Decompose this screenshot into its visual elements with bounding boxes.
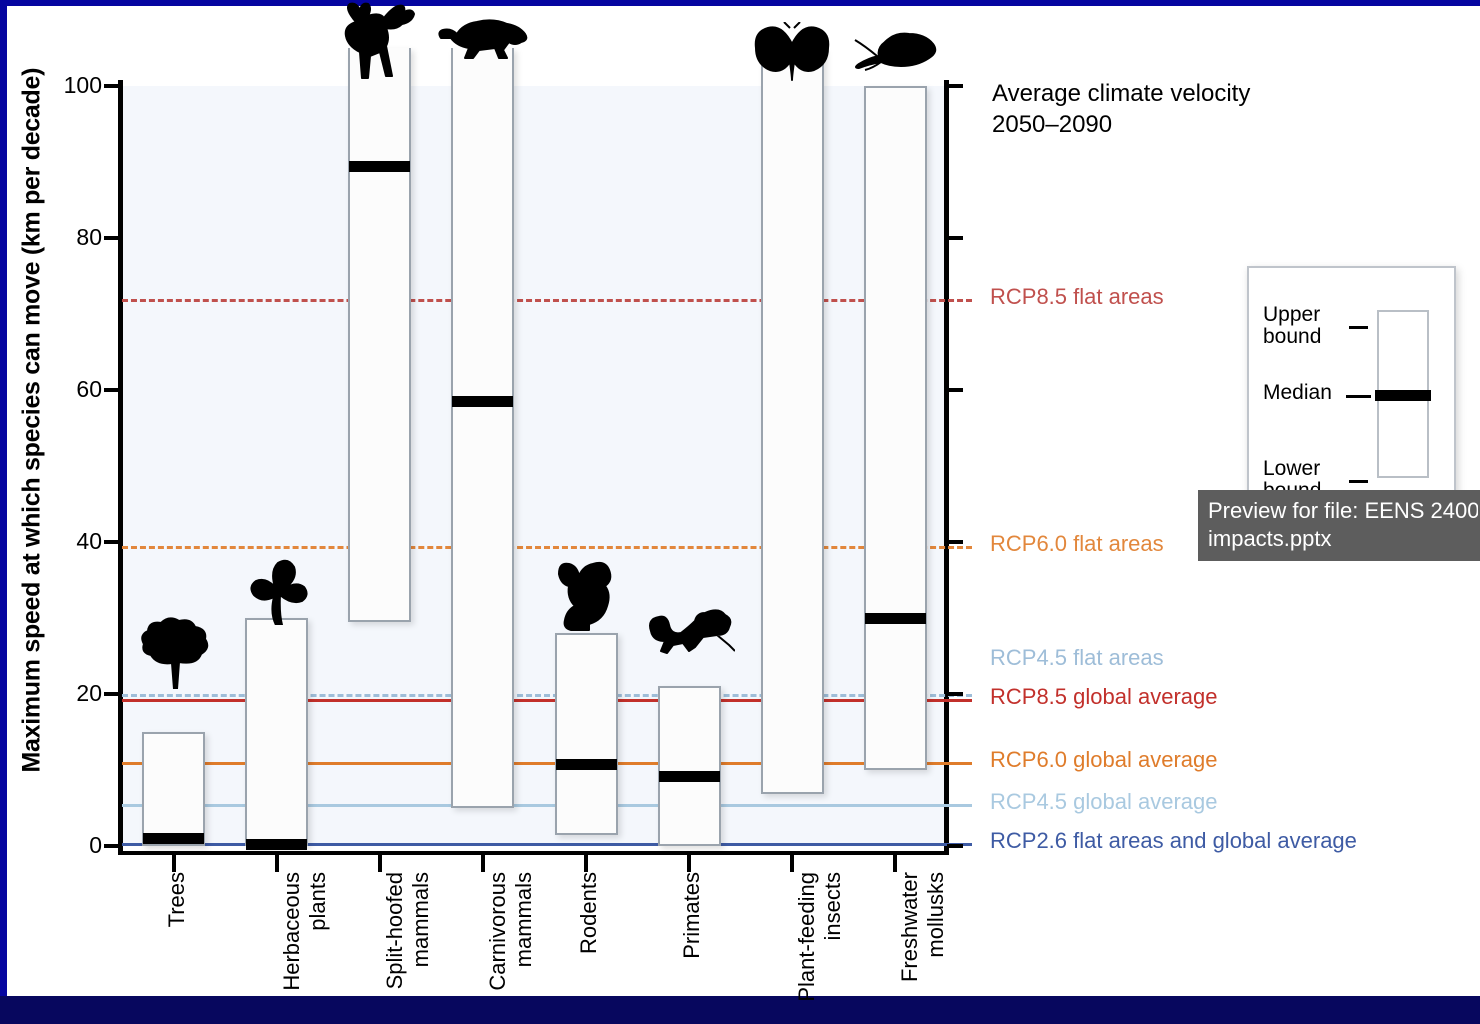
y-axis-line — [118, 80, 123, 855]
x-tick-mark-2 — [378, 855, 382, 872]
x-axis-label-line1-6: Plant-feeding — [794, 872, 819, 1002]
median-marker-0 — [143, 833, 204, 844]
median-marker-1 — [246, 839, 307, 850]
bar-trees — [142, 732, 205, 846]
tree-icon — [139, 617, 209, 689]
slide-bottom-border — [0, 996, 1480, 1024]
median-marker-2 — [349, 161, 410, 172]
file-preview-tooltip: Preview for file: EENS 2400 impacts.pptx — [1198, 490, 1480, 561]
y-tick-label-100: 100 — [42, 72, 102, 99]
squirrel-icon — [553, 558, 619, 632]
chart-legend: Upper bound Median Lower bound — [1247, 266, 1456, 497]
x-axis-label-line2-2: mammals — [408, 872, 434, 989]
butterfly-icon — [752, 22, 832, 84]
legend-upper-bound-label: Upper bound — [1263, 304, 1321, 348]
climate-velocity-note: Average climate velocity 2050–2090 — [992, 78, 1250, 140]
bar-carnivorous-mammals — [451, 48, 514, 808]
x-axis-label-4: Rodents — [576, 872, 602, 954]
slide-left-border — [0, 0, 7, 1024]
x-tick-mark-6 — [790, 855, 794, 872]
y-tick-mark-40 — [104, 540, 120, 544]
x-tick-mark-3 — [481, 855, 485, 872]
mollusk-icon — [851, 28, 939, 72]
x-axis-label-line1-3: Carnivorous — [485, 872, 510, 991]
y-tick-mark-right-80 — [947, 236, 963, 240]
reference-line-label-4: RCP6.0 global average — [990, 747, 1217, 773]
x-axis-line — [118, 851, 949, 855]
clover-plant-icon — [246, 553, 308, 625]
x-axis-label-3: Carnivorousmammals — [485, 872, 537, 991]
x-axis-label-line1-5: Primates — [679, 872, 704, 959]
reference-line-label-3: RCP8.5 global average — [990, 684, 1217, 710]
median-marker-3 — [452, 396, 513, 407]
y-tick-mark-right-40 — [947, 540, 963, 544]
bar-freshwater-mollusks — [864, 86, 927, 770]
slide-top-border — [0, 0, 1480, 6]
y-tick-mark-right-20 — [947, 692, 963, 696]
reference-line-label-2: RCP4.5 flat areas — [990, 645, 1164, 671]
bar-split-hoofed-mammals — [348, 48, 411, 622]
bar-herbaceous-plants — [245, 618, 308, 846]
y-tick-label-80: 80 — [42, 224, 102, 251]
x-axis-label-line1-4: Rodents — [576, 872, 601, 954]
x-tick-mark-7 — [893, 855, 897, 872]
reference-line-1 — [122, 546, 972, 549]
median-marker-5 — [659, 771, 720, 782]
reference-line-label-6: RCP2.6 flat areas and global average — [990, 828, 1357, 854]
bar-rodents — [555, 633, 618, 834]
slide-canvas: Maximum speed at which species can move … — [0, 0, 1480, 1024]
x-tick-mark-4 — [584, 855, 588, 872]
x-axis-label-5: Primates — [679, 872, 705, 959]
y-tick-mark-80 — [104, 236, 120, 240]
y-tick-label-60: 60 — [42, 376, 102, 403]
legend-lower-bound-dash — [1349, 480, 1368, 483]
x-axis-label-line2-7: mollusks — [923, 872, 949, 982]
tooltip-line-2: impacts.pptx — [1208, 525, 1478, 553]
cheetah-icon — [437, 16, 529, 60]
median-marker-4 — [556, 759, 617, 770]
y-tick-mark-0 — [104, 844, 120, 848]
legend-median-dash — [1346, 395, 1371, 398]
y-tick-label-20: 20 — [42, 680, 102, 707]
x-axis-label-line1-2: Split-hoofed — [382, 872, 407, 989]
x-axis-label-2: Split-hoofedmammals — [382, 872, 434, 989]
x-axis-label-line2-1: plants — [305, 872, 331, 991]
y-tick-mark-60 — [104, 388, 120, 392]
x-axis-label-line1-7: Freshwater — [897, 872, 922, 982]
x-axis-label-line1-1: Herbaceous — [279, 872, 304, 991]
legend-median-label: Median — [1263, 382, 1332, 404]
legend-sample-median — [1375, 390, 1431, 401]
x-axis-label-line2-3: mammals — [511, 872, 537, 991]
bar-plant-feeding-insects — [761, 48, 824, 794]
y-tick-mark-right-0 — [947, 844, 963, 848]
x-tick-mark-5 — [687, 855, 691, 872]
x-axis-label-6: Plant-feedinginsects — [794, 872, 846, 1002]
tooltip-line-1: Preview for file: EENS 2400 — [1208, 497, 1478, 525]
median-marker-7 — [865, 613, 926, 624]
moose-icon — [334, 2, 426, 80]
y-tick-mark-right-100 — [947, 84, 963, 88]
x-tick-mark-0 — [172, 855, 176, 872]
reference-line-label-1: RCP6.0 flat areas — [990, 531, 1164, 557]
secondary-y-axis-line — [944, 80, 949, 855]
y-tick-label-0: 0 — [42, 832, 102, 859]
y-tick-mark-100 — [104, 84, 120, 88]
x-tick-mark-1 — [275, 855, 279, 872]
reference-line-label-5: RCP4.5 global average — [990, 789, 1217, 815]
x-axis-label-0: Trees — [164, 872, 190, 927]
x-axis-label-1: Herbaceousplants — [279, 872, 331, 991]
y-tick-label-40: 40 — [42, 528, 102, 555]
legend-upper-bound-dash — [1349, 326, 1368, 329]
reference-line-label-0: RCP8.5 flat areas — [990, 284, 1164, 310]
x-axis-label-7: Freshwatermollusks — [897, 872, 949, 982]
bar-primates — [658, 686, 721, 846]
note-line-1: Average climate velocity — [992, 78, 1250, 109]
y-tick-mark-20 — [104, 692, 120, 696]
note-line-2: 2050–2090 — [992, 109, 1250, 140]
x-axis-label-line1-0: Trees — [164, 872, 189, 927]
reference-line-0 — [122, 299, 972, 302]
y-tick-mark-right-60 — [947, 388, 963, 392]
x-axis-label-line2-6: insects — [820, 872, 846, 1002]
monkey-icon — [643, 607, 735, 655]
